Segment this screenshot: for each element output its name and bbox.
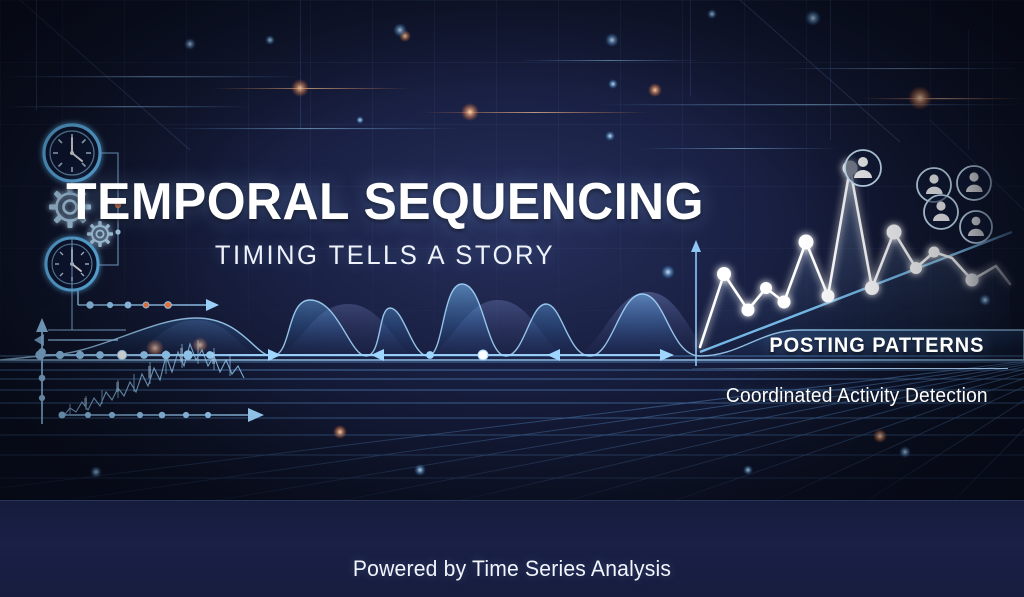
- panel-heading: POSTING PATTERNS: [769, 334, 984, 358]
- hero-banner: TEMPORAL SEQUENCING TIMING TELLS A STORY…: [0, 0, 1024, 597]
- page-subtitle: TIMING TELLS A STORY: [19, 240, 751, 271]
- vertical-axis: [36, 318, 48, 424]
- title-block: TEMPORAL SEQUENCING TIMING TELLS A STORY: [0, 176, 770, 271]
- user-avatar-icon-2: [917, 168, 951, 202]
- mini-noise-chart: [62, 340, 244, 418]
- footer-text: Powered by Time Series Analysis: [20, 556, 1003, 582]
- panel-subheading: Coordinated Activity Detection: [726, 385, 988, 408]
- footer-band: [0, 500, 1024, 597]
- user-avatar-icon-5: [960, 211, 992, 243]
- timeline-main: [36, 349, 674, 361]
- avatar-markers: [845, 150, 992, 243]
- timeline-upper: [78, 288, 219, 311]
- page-title: TEMPORAL SEQUENCING: [15, 176, 754, 228]
- user-avatar-icon-3: [957, 166, 991, 200]
- timeline-lower: [59, 408, 264, 422]
- user-avatar-icon-4: [924, 195, 958, 229]
- panel-divider: [692, 368, 1008, 369]
- user-avatar-icon-1: [845, 150, 881, 186]
- timeline-mid-short: [34, 334, 118, 346]
